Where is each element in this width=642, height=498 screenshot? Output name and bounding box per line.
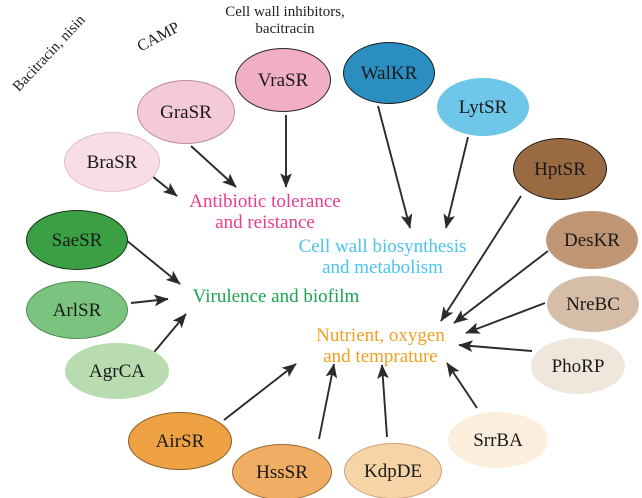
- outcome-antibiotic: Antibiotic tolerance and reistance: [160, 192, 370, 233]
- node-agrca[interactable]: AgrCA: [65, 343, 169, 399]
- node-saesr[interactable]: SaeSR: [26, 210, 128, 270]
- node-lytsr[interactable]: LytSR: [437, 78, 529, 136]
- diagram-canvas: Cell wall inhibitors, bacitracinCAMPBaci…: [0, 0, 642, 498]
- arrow-phorp-to-nutrient: [459, 345, 532, 351]
- stim-camp: CAMP: [124, 13, 194, 62]
- stim-cell-wall-inhibitors: Cell wall inhibitors, bacitracin: [200, 4, 370, 38]
- node-airsr[interactable]: AirSR: [128, 412, 232, 470]
- node-brasr[interactable]: BraSR: [64, 132, 160, 192]
- arrow-grasr-to-antibiotic: [191, 146, 236, 187]
- stim-bacitracin-nisin: Bacitracin, nisin: [0, 0, 103, 111]
- arrow-agrca-to-virulence: [150, 314, 186, 357]
- node-deskr[interactable]: DesKR: [546, 211, 638, 269]
- node-srrba[interactable]: SrrBA: [448, 412, 548, 468]
- outcome-cellwall: Cell wall biosynthesis and metabolism: [270, 237, 495, 278]
- arrow-lytsr-to-cellwall: [446, 137, 468, 228]
- node-vrasr[interactable]: VraSR: [235, 48, 331, 112]
- node-grasr[interactable]: GraSR: [137, 80, 235, 144]
- arrow-walkr-to-cellwall: [378, 106, 410, 228]
- outcome-virulence: Virulence and biofilm: [166, 287, 386, 308]
- outcome-nutrient: Nutrient, oxygen and temprature: [293, 326, 468, 367]
- arrow-srrba-to-nutrient: [447, 363, 477, 408]
- node-phorp[interactable]: PhoRP: [531, 338, 625, 394]
- arrow-saesr-to-virulence: [126, 240, 180, 284]
- arrow-kdpde-to-nutrient: [382, 365, 387, 437]
- arrow-hsssr-to-nutrient: [319, 364, 334, 439]
- arrow-arlsr-to-virulence: [131, 299, 168, 303]
- arrow-airsr-to-nutrient: [224, 364, 296, 420]
- node-arlsr[interactable]: ArlSR: [26, 281, 128, 339]
- node-hsssr[interactable]: HssSR: [232, 444, 332, 498]
- node-nrebc[interactable]: NreBC: [547, 276, 639, 332]
- node-kdpde[interactable]: KdpDE: [344, 443, 442, 498]
- node-hptsr[interactable]: HptSR: [513, 138, 607, 200]
- arrow-nrebc-to-nutrient: [466, 303, 545, 333]
- node-walkr[interactable]: WalKR: [343, 42, 435, 104]
